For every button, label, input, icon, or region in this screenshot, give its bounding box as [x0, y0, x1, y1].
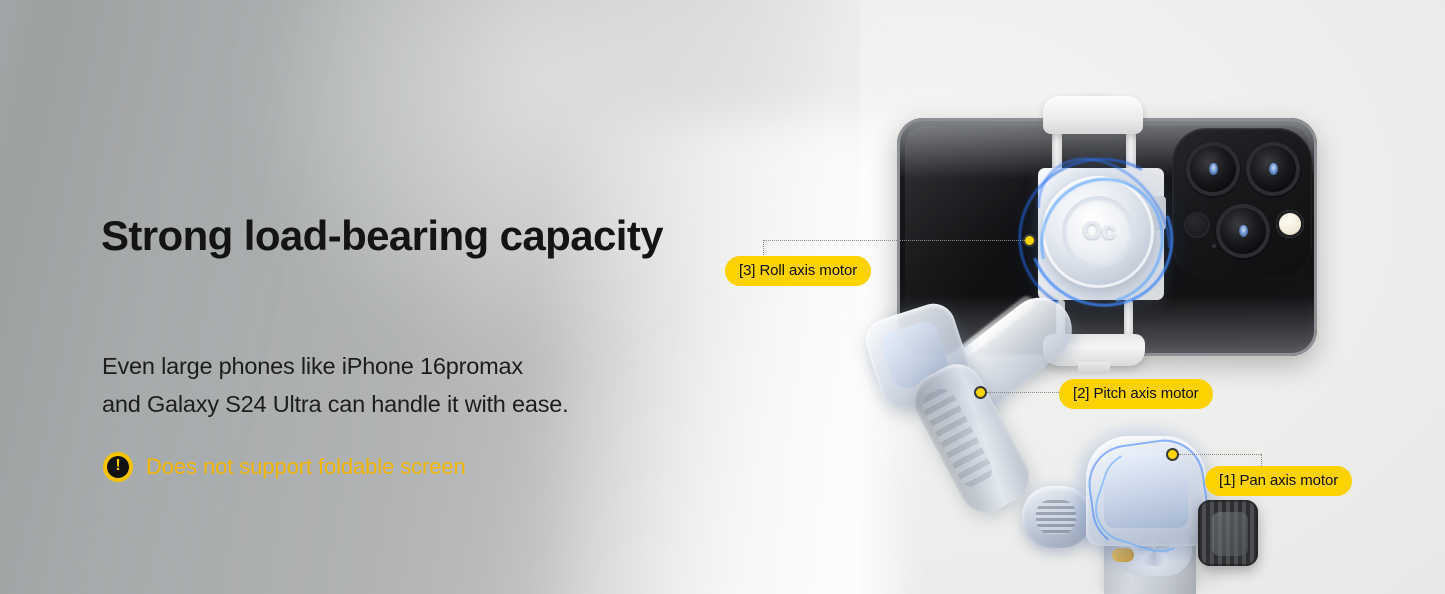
callout-dot-pan	[1166, 448, 1179, 461]
callout-leader-pan-horizontal	[1179, 454, 1261, 455]
elbow-grille-icon	[1036, 500, 1076, 534]
callout-pill-pan[interactable]: [1] Pan axis motor	[1205, 466, 1352, 496]
camera-flash-icon	[1276, 210, 1304, 238]
callout-leader-roll-vertical	[763, 240, 764, 257]
exclamation-icon-inner: !	[107, 456, 129, 478]
page-title: Strong load-bearing capacity	[101, 209, 721, 262]
phone-camera-module	[1172, 128, 1312, 278]
camera-lens-wide	[1186, 142, 1240, 196]
callout-leader-roll-horizontal	[763, 240, 1025, 241]
camera-lens-telephoto	[1246, 142, 1300, 196]
gimbal-product-image: Ос	[0, 0, 1445, 594]
subcopy-line-2: and Galaxy S24 Ultra can handle it with …	[102, 385, 742, 423]
clamp-arm-top	[1043, 96, 1143, 134]
warning-text: Does not support foldable screen	[146, 454, 466, 480]
subcopy: Even large phones like iPhone 16promax a…	[102, 347, 742, 423]
callout-leader-pitch-horizontal	[987, 392, 1059, 393]
clamp-foot	[1078, 362, 1110, 374]
warning-notice: ! Does not support foldable screen	[103, 452, 466, 482]
product-banner: Ос Strong load-bearing capacity Even lar…	[0, 0, 1445, 594]
callout-pill-roll[interactable]: [3] Roll axis motor	[725, 256, 871, 286]
callout-pill-pitch[interactable]: [2] Pitch axis motor	[1059, 379, 1213, 409]
exclamation-mark-glyph: !	[115, 458, 120, 474]
camera-lens-ultrawide	[1216, 204, 1270, 258]
microphone-dot-icon	[1212, 244, 1216, 248]
exclamation-circle-icon: !	[103, 452, 133, 482]
callout-dot-pitch	[974, 386, 987, 399]
tilt-lock-knob-face	[1212, 512, 1248, 556]
subcopy-line-1: Even large phones like iPhone 16promax	[102, 347, 742, 385]
